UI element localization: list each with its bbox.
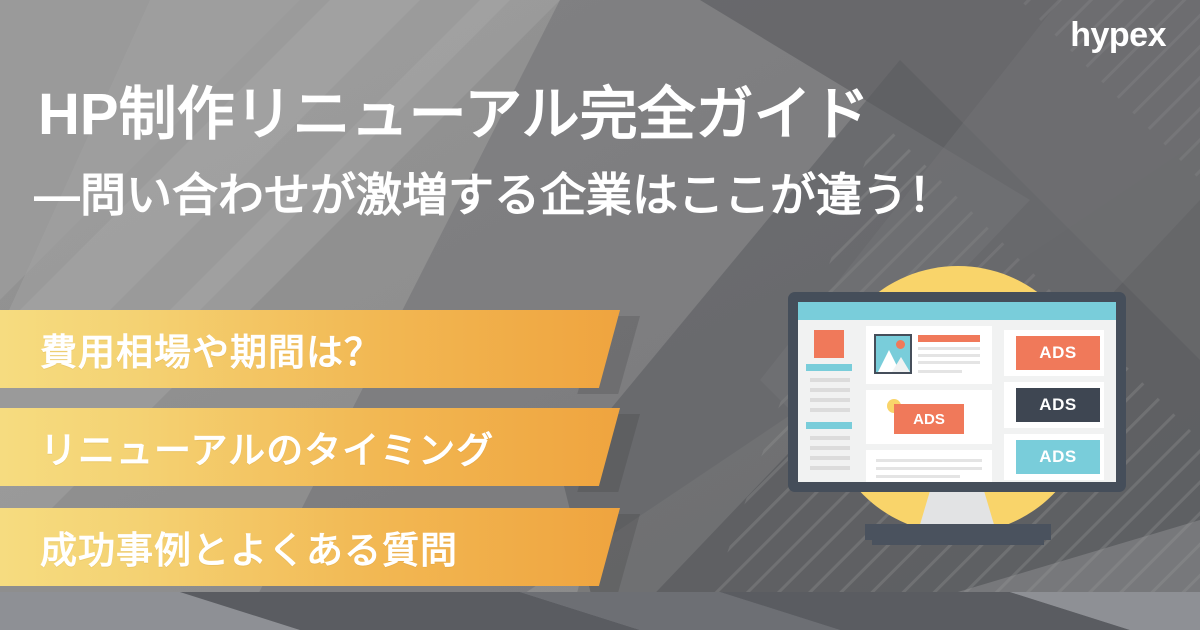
article-text-line [876, 475, 960, 478]
sidebar-text-line [810, 408, 850, 412]
monitor-stand-base-lip [872, 540, 1044, 545]
topic-banner-list: 費用相場や期間は？ リニューアルのタイミング 成功事例とよくある質問 [0, 310, 660, 600]
article-text-line [918, 370, 962, 373]
article-text-line [876, 467, 982, 470]
article-card-partial[interactable] [866, 450, 992, 482]
page-subtitle: ―問い合わせが激増する企業はここが違う！ [34, 170, 954, 221]
thumbnail-sun-icon [896, 340, 905, 349]
monitor-illustration: ADS ADS ADS [780, 262, 1140, 610]
page-title: HP制作リニューアル完全ガイド [38, 84, 870, 147]
topic-banner-1[interactable]: 費用相場や期間は？ [0, 310, 620, 388]
topic-banner-3[interactable]: 成功事例とよくある質問 [0, 508, 620, 586]
thumbnail-image [876, 336, 910, 372]
topic-banner-2-label: リニューアルのタイミング [0, 420, 494, 474]
site-main-column: ADS [866, 326, 992, 482]
ad-slot-2[interactable]: ADS [1004, 382, 1104, 428]
article-text-line [918, 361, 980, 364]
sidebar-text-line [810, 436, 850, 440]
site-sidebar-column [804, 326, 858, 482]
sidebar-heading-bar-1 [806, 364, 852, 371]
article-text-line [876, 459, 982, 462]
sidebar-text-line [810, 446, 850, 450]
ad-slot-1-label: ADS [1016, 336, 1100, 370]
inline-ad-label: ADS [894, 404, 964, 434]
article-text-line [918, 354, 980, 357]
site-header-bar [798, 302, 1116, 320]
inline-ad-card[interactable]: ADS [866, 390, 992, 444]
ad-slot-3[interactable]: ADS [1004, 434, 1104, 480]
article-thumbnail [874, 334, 912, 374]
monitor-screen: ADS ADS ADS [798, 302, 1116, 482]
topic-banner-3-label: 成功事例とよくある質問 [0, 520, 458, 574]
ad-slot-1[interactable]: ADS [1004, 330, 1104, 376]
article-text-line [918, 347, 980, 350]
monitor-stand-neck [919, 492, 995, 528]
brand-logo[interactable]: hypex [1070, 18, 1166, 52]
topic-banner-1-label: 費用相場や期間は？ [0, 322, 382, 376]
sidebar-text-line [810, 378, 850, 382]
sidebar-text-line [810, 466, 850, 470]
ad-slot-2-label: ADS [1016, 388, 1100, 422]
sidebar-text-line [810, 388, 850, 392]
site-ads-column: ADS ADS ADS [1000, 326, 1110, 482]
article-title-bar [918, 335, 980, 342]
sidebar-heading-bar-2 [806, 422, 852, 429]
monitor-frame: ADS ADS ADS [788, 292, 1126, 492]
sidebar-text-line [810, 398, 850, 402]
sidebar-text-line [810, 456, 850, 460]
ad-slot-3-label: ADS [1016, 440, 1100, 474]
monitor-stand-base [865, 524, 1051, 540]
poster-canvas: hypex HP制作リニューアル完全ガイド ―問い合わせが激増する企業はここが違… [0, 0, 1200, 630]
thumbnail-mountain-icon [892, 357, 910, 372]
topic-banner-2[interactable]: リニューアルのタイミング [0, 408, 620, 486]
sidebar-thumbnail-block [814, 330, 844, 358]
article-card[interactable] [866, 326, 992, 384]
